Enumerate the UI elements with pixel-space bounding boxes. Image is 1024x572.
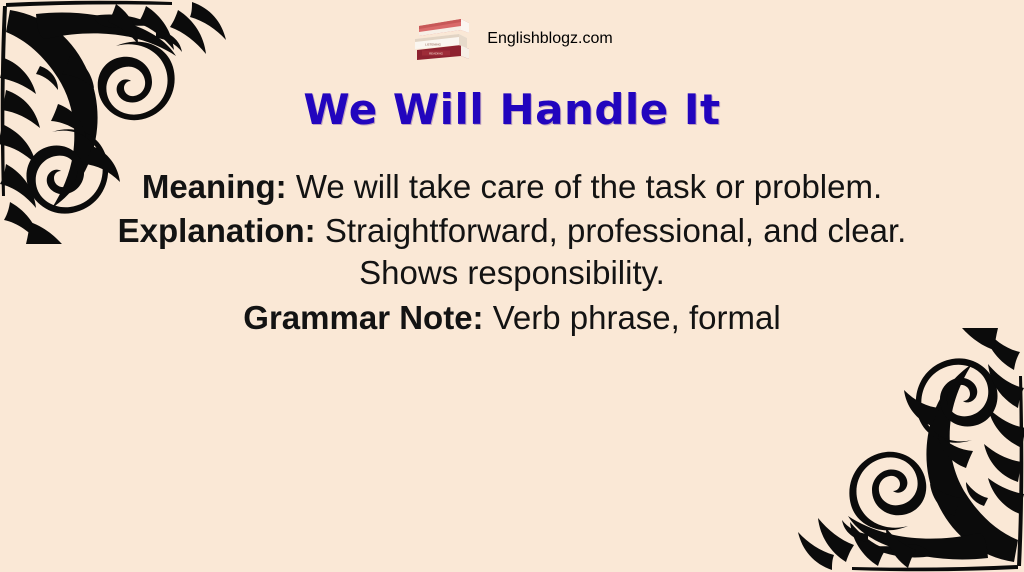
entry-label-meaning: Meaning: xyxy=(142,168,287,205)
entry-grammar-note: Grammar Note: Verb phrase, formal xyxy=(112,297,912,339)
floral-corner-ornament-bottom-right xyxy=(796,328,1024,572)
brand-name: Englishblogz.com xyxy=(487,30,612,48)
stacked-books-icon: READING LISTENING xyxy=(411,14,473,66)
content-block: Meaning: We will take care of the task o… xyxy=(112,166,912,341)
entry-explanation: Explanation: Straightforward, profession… xyxy=(112,210,912,294)
svg-text:LISTENING: LISTENING xyxy=(425,43,442,47)
entry-text-grammar-note: Verb phrase, formal xyxy=(484,299,781,336)
entry-meaning: Meaning: We will take care of the task o… xyxy=(112,166,912,208)
brand-header: READING LISTENING Englishblogz.com xyxy=(0,10,1024,68)
entry-label-grammar-note: Grammar Note: xyxy=(243,299,483,336)
page-title: We Will Handle It xyxy=(0,88,1024,132)
entry-text-meaning: We will take care of the task or problem… xyxy=(287,168,882,205)
svg-text:READING: READING xyxy=(429,52,443,56)
quote-card: READING LISTENING Englishblogz.com We Wi… xyxy=(0,0,1024,572)
entry-label-explanation: Explanation: xyxy=(118,212,316,249)
entry-text-explanation: Straightforward, professional, and clear… xyxy=(316,212,907,291)
